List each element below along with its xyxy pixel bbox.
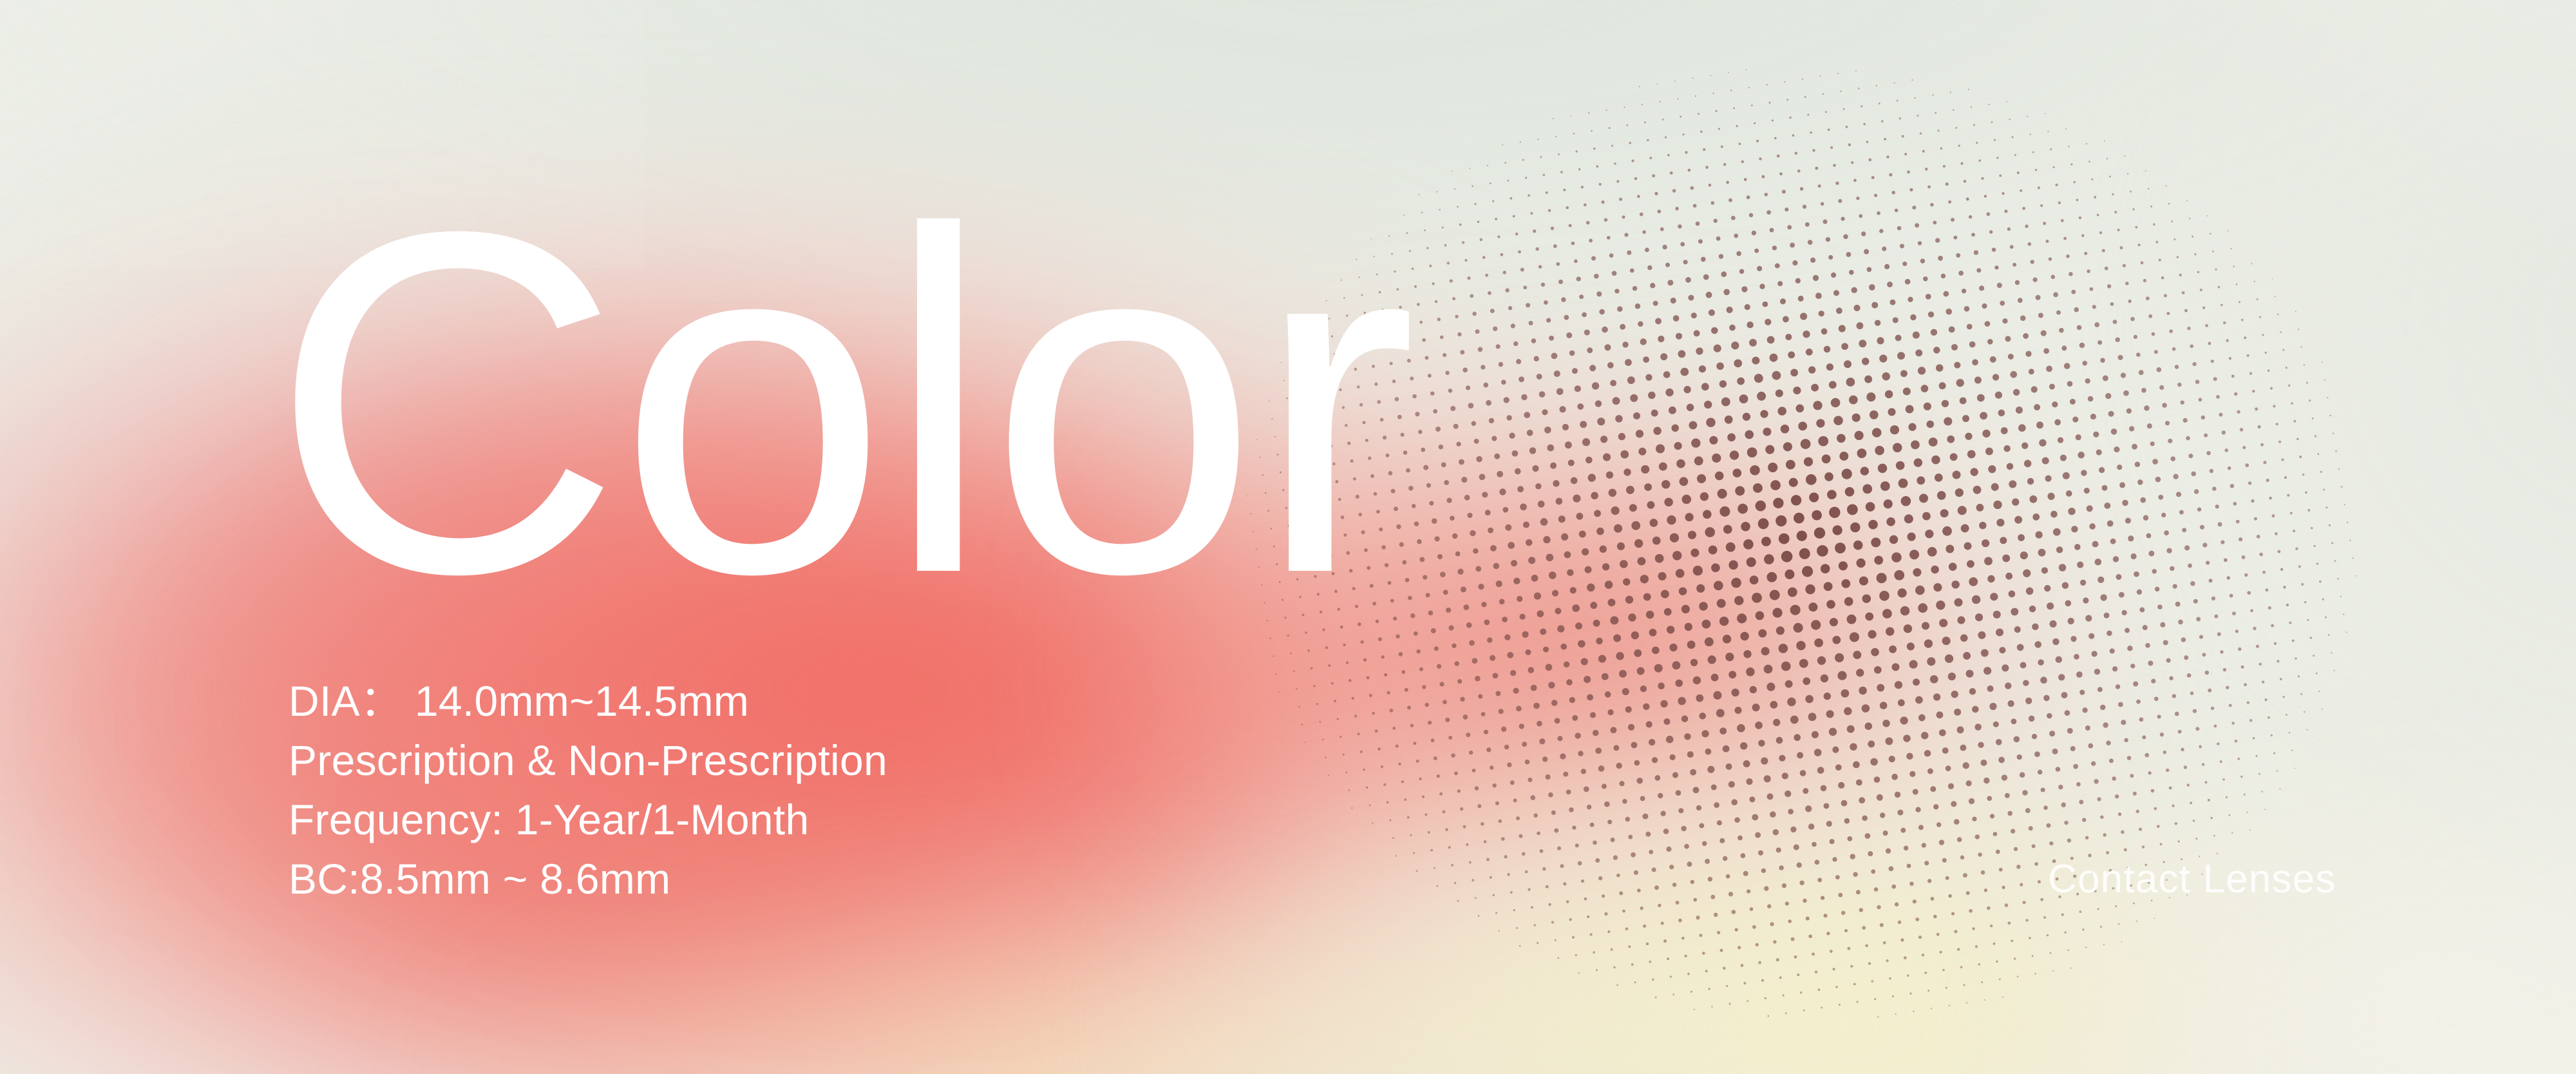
gradient-blob-white-corner: [1964, 760, 2576, 1074]
product-banner: Color DIA： 14.0mm~14.5mm Prescription & …: [0, 0, 2576, 1074]
product-spec-list: DIA： 14.0mm~14.5mm Prescription & Non-Pr…: [289, 671, 887, 908]
page-title: Color: [270, 193, 1413, 611]
product-category-label: Contact Lenses: [2048, 857, 2336, 902]
spec-prescription: Prescription & Non-Prescription: [289, 731, 887, 790]
spec-bc: BC:8.5mm ~ 8.6mm: [289, 849, 887, 908]
spec-frequency: Frequency: 1-Year/1-Month: [289, 790, 887, 849]
spec-dia: DIA： 14.0mm~14.5mm: [289, 671, 887, 731]
